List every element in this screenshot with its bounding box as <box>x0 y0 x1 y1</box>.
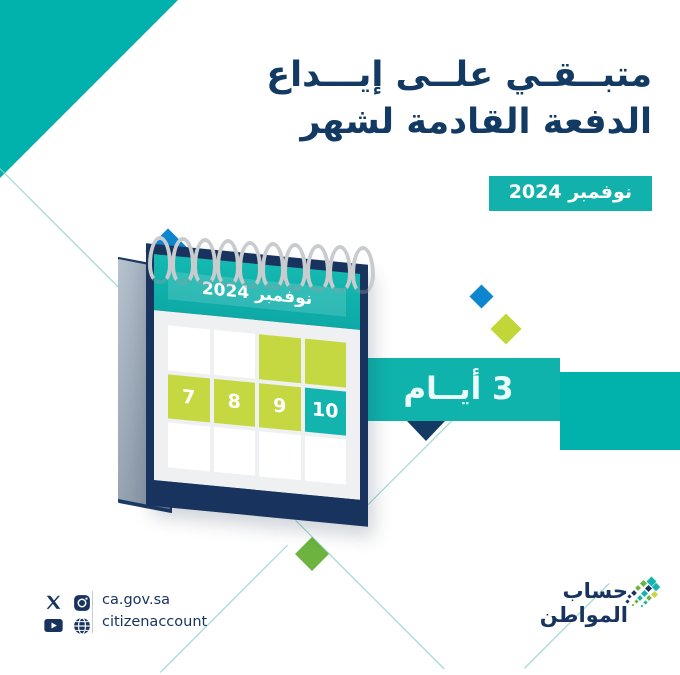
calendar-day-7: 7 <box>168 374 210 423</box>
diamond-green-lower <box>295 537 329 571</box>
footer-divider <box>92 591 93 633</box>
footer-handles: ca.gov.sa citizenaccount <box>102 590 207 634</box>
logo-mark-pixel <box>631 590 637 596</box>
calendar-illustration: نوفمبر 2024 78910 <box>118 236 386 536</box>
diamond-lime-medium <box>490 313 521 344</box>
logo-mark-pixel <box>652 583 660 591</box>
calendar-day-empty <box>214 330 256 379</box>
spiral-ring <box>148 236 172 284</box>
countdown-banner-tail <box>407 421 445 441</box>
calendar-day-8: 8 <box>214 378 256 427</box>
footer-handle-website[interactable]: ca.gov.sa <box>102 590 207 612</box>
corner-triangle-decoration <box>0 0 178 178</box>
logo-mark-pixel <box>634 599 638 603</box>
footer-handle-account[interactable]: citizenaccount <box>102 612 207 634</box>
countdown-banner-label: 3 أيــام <box>403 374 513 405</box>
logo-mark-pixel <box>625 599 629 603</box>
logo-mark-pixel <box>651 591 658 598</box>
headline-line-1: متبــقـي علــى إيـــداع <box>232 52 652 99</box>
spiral-ring <box>306 244 330 292</box>
brand-logo: حساب المواطن <box>528 578 656 630</box>
website-globe-icon[interactable] <box>72 616 91 635</box>
brand-name-line-1: حساب <box>540 580 628 604</box>
logo-mark-pixel <box>643 600 647 604</box>
spiral-ring <box>193 238 217 286</box>
social-icon-group <box>44 592 94 636</box>
brand-logo-mark-icon <box>622 578 656 608</box>
logo-mark-pixel <box>627 594 631 598</box>
calendar-day-empty <box>305 339 347 388</box>
page-title: متبــقـي علــى إيـــداع الدفعة القادمة ل… <box>232 52 652 145</box>
calendar-day-empty <box>168 325 210 374</box>
spiral-ring <box>283 243 307 291</box>
calendar-day-10: 10 <box>305 387 347 436</box>
calendar-day-9: 9 <box>259 383 301 432</box>
calendar-grid: 78910 <box>168 325 346 484</box>
month-badge: نوفمبر 2024 <box>489 176 652 211</box>
logo-mark-pixel <box>646 595 652 601</box>
calendar-day-empty <box>214 427 256 476</box>
spiral-ring <box>238 241 262 289</box>
instagram-icon[interactable] <box>72 593 91 612</box>
footer: ca.gov.sa citizenaccount <box>44 590 274 636</box>
calendar-day-empty <box>168 423 210 472</box>
brand-name-line-2: المواطن <box>540 604 628 628</box>
calendar-day-empty <box>305 436 347 485</box>
side-teal-block-decoration <box>560 372 680 450</box>
spiral-ring <box>216 239 240 287</box>
headline-line-2: الدفعة القادمة لشهر <box>232 99 652 146</box>
month-badge-label: نوفمبر 2024 <box>509 181 632 203</box>
spiral-ring <box>328 245 352 293</box>
spiral-ring <box>171 237 195 285</box>
diamond-blue-small <box>469 284 493 308</box>
poster-canvas: متبــقـي علــى إيـــداع الدفعة القادمة ل… <box>0 0 680 675</box>
logo-mark-pixel <box>632 604 635 607</box>
countdown-banner: 3 أيــام <box>357 358 560 421</box>
calendar-day-empty <box>259 432 301 481</box>
spiral-ring <box>351 246 375 294</box>
x-twitter-icon[interactable] <box>44 593 63 612</box>
brand-logo-text: حساب المواطن <box>540 580 628 627</box>
calendar-spiral-binding <box>148 236 378 282</box>
calendar-day-empty <box>259 334 301 383</box>
calendar-sheet: 78910 <box>154 310 360 500</box>
logo-mark-pixel <box>635 585 641 591</box>
logo-mark-pixel <box>641 605 644 608</box>
youtube-icon[interactable] <box>44 616 63 635</box>
spiral-ring <box>261 242 285 290</box>
